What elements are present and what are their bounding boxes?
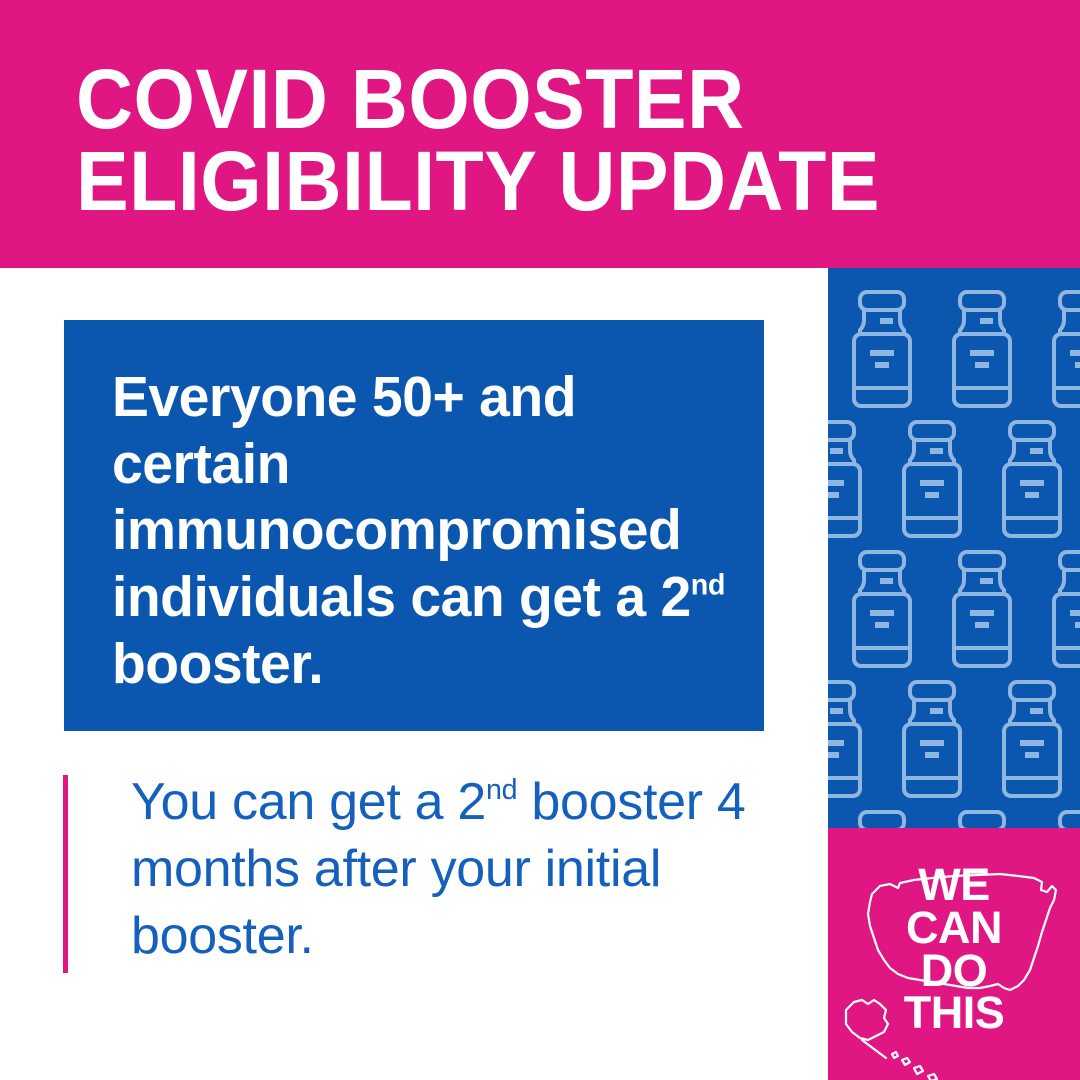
vial-pattern-panel: [828, 268, 1080, 828]
logo-wordmark: WE CAN DO THIS: [828, 864, 1080, 1035]
vaccine-vial-icon: [828, 268, 1080, 828]
timing-note-text: You can get a 2nd booster 4 months after…: [131, 769, 771, 970]
timing-note-ordinal-suffix: nd: [486, 774, 517, 806]
callout-ordinal-suffix: nd: [691, 569, 725, 602]
logo-line-3: DO: [828, 950, 1080, 993]
callout-text-tail: booster.: [112, 632, 323, 696]
timing-note: You can get a 2nd booster 4 months after…: [63, 775, 763, 973]
accent-rule: [63, 775, 68, 973]
callout-text-main: Everyone 50+ and certain immunocompromis…: [112, 365, 691, 629]
poster-canvas: COVID BOOSTER ELIGIBILITY UPDATE: [0, 0, 1080, 1080]
logo-line-1: WE: [828, 864, 1080, 907]
header-band: COVID BOOSTER ELIGIBILITY UPDATE: [0, 0, 1080, 268]
page-title: COVID BOOSTER ELIGIBILITY UPDATE: [76, 58, 978, 223]
timing-note-main: You can get a 2: [131, 773, 486, 831]
eligibility-callout-box: Everyone 50+ and certain immunocompromis…: [64, 320, 764, 731]
callout-text: Everyone 50+ and certain immunocompromis…: [112, 364, 733, 697]
logo-line-4: THIS: [828, 992, 1080, 1035]
we-can-do-this-logo: WE CAN DO THIS: [828, 828, 1080, 1080]
logo-line-2: CAN: [828, 907, 1080, 950]
